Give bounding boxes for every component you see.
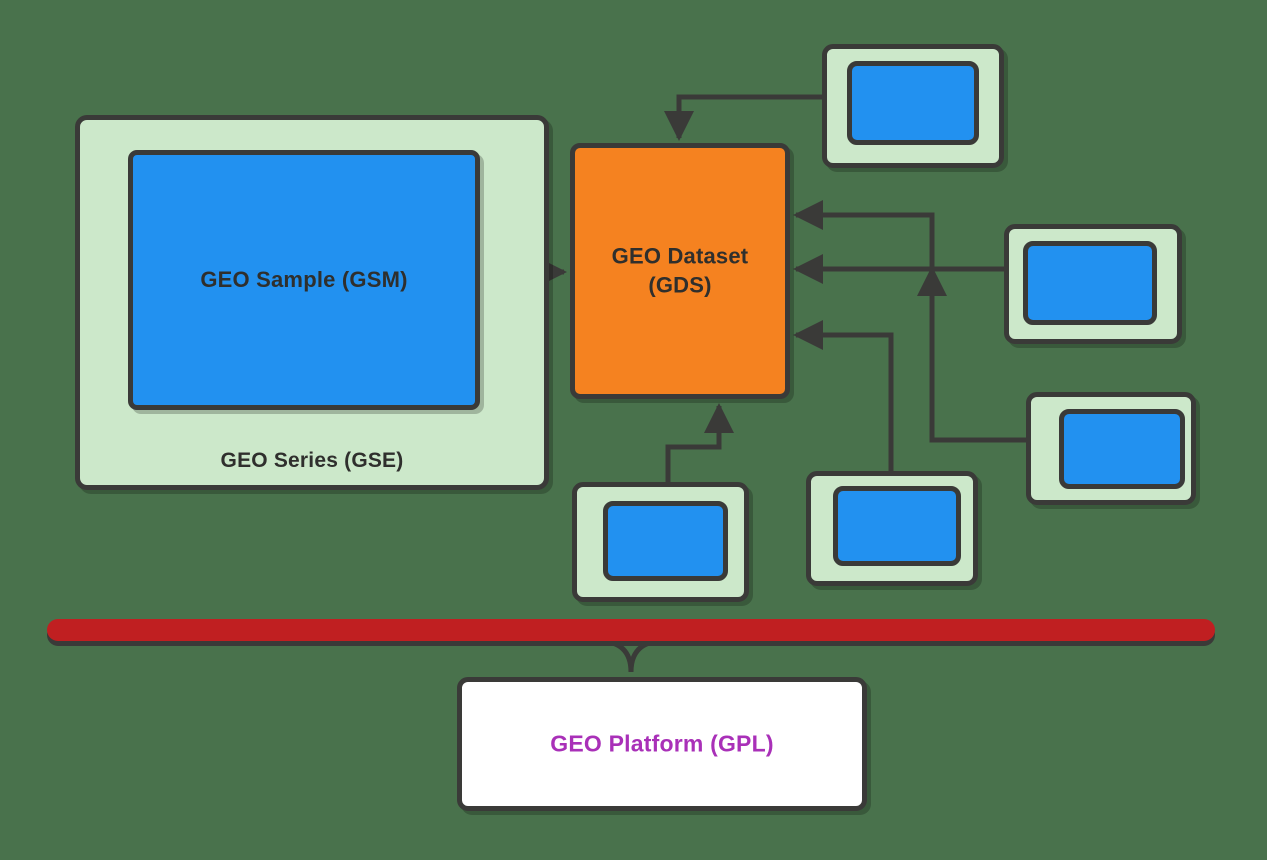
satellite-sample-bottom-left[interactable]: [603, 501, 728, 581]
geo-sample-box[interactable]: GEO Sample (GSM): [128, 150, 480, 410]
edge-series-right-upper-to-gds-a: [796, 215, 1004, 269]
geo-dataset-label: GEO Dataset (GDS): [575, 242, 785, 299]
satellite-sample-bottom-center[interactable]: [833, 486, 961, 566]
satellite-sample-right-upper[interactable]: [1023, 241, 1157, 325]
geo-series-container[interactable]: GEO Sample (GSM) GEO Series (GSE): [75, 115, 549, 490]
geo-sample-label: GEO Sample (GSM): [133, 267, 475, 293]
satellite-sample-top-right[interactable]: [847, 61, 979, 145]
geo-dataset-label-line2: (GDS): [648, 272, 711, 297]
geo-dataset-box[interactable]: GEO Dataset (GDS): [570, 143, 790, 399]
satellite-series-top-right[interactable]: [822, 44, 1004, 168]
platform-bus-bar: [47, 619, 1215, 641]
geo-dataset-label-line1: GEO Dataset: [612, 243, 749, 268]
diagram-canvas: GEO Sample (GSM) GEO Series (GSE) GEO Da…: [0, 0, 1267, 860]
geo-platform-box[interactable]: GEO Platform (GPL): [457, 677, 867, 811]
satellite-series-right-lower[interactable]: [1026, 392, 1196, 505]
satellite-series-bottom-center[interactable]: [806, 471, 978, 586]
geo-platform-label: GEO Platform (GPL): [462, 731, 862, 758]
satellite-sample-right-lower[interactable]: [1059, 409, 1185, 489]
edge-platform-bar-to-gpl-mirror: [631, 641, 664, 672]
satellite-series-bottom-left[interactable]: [572, 482, 749, 602]
edge-series-top-right-to-gds: [679, 97, 822, 138]
edge-platform-bar-to-gpl: [598, 641, 631, 672]
edge-series-bottom-center-to-gds: [796, 335, 891, 471]
geo-series-label: GEO Series (GSE): [80, 449, 544, 473]
satellite-series-right-upper[interactable]: [1004, 224, 1182, 344]
